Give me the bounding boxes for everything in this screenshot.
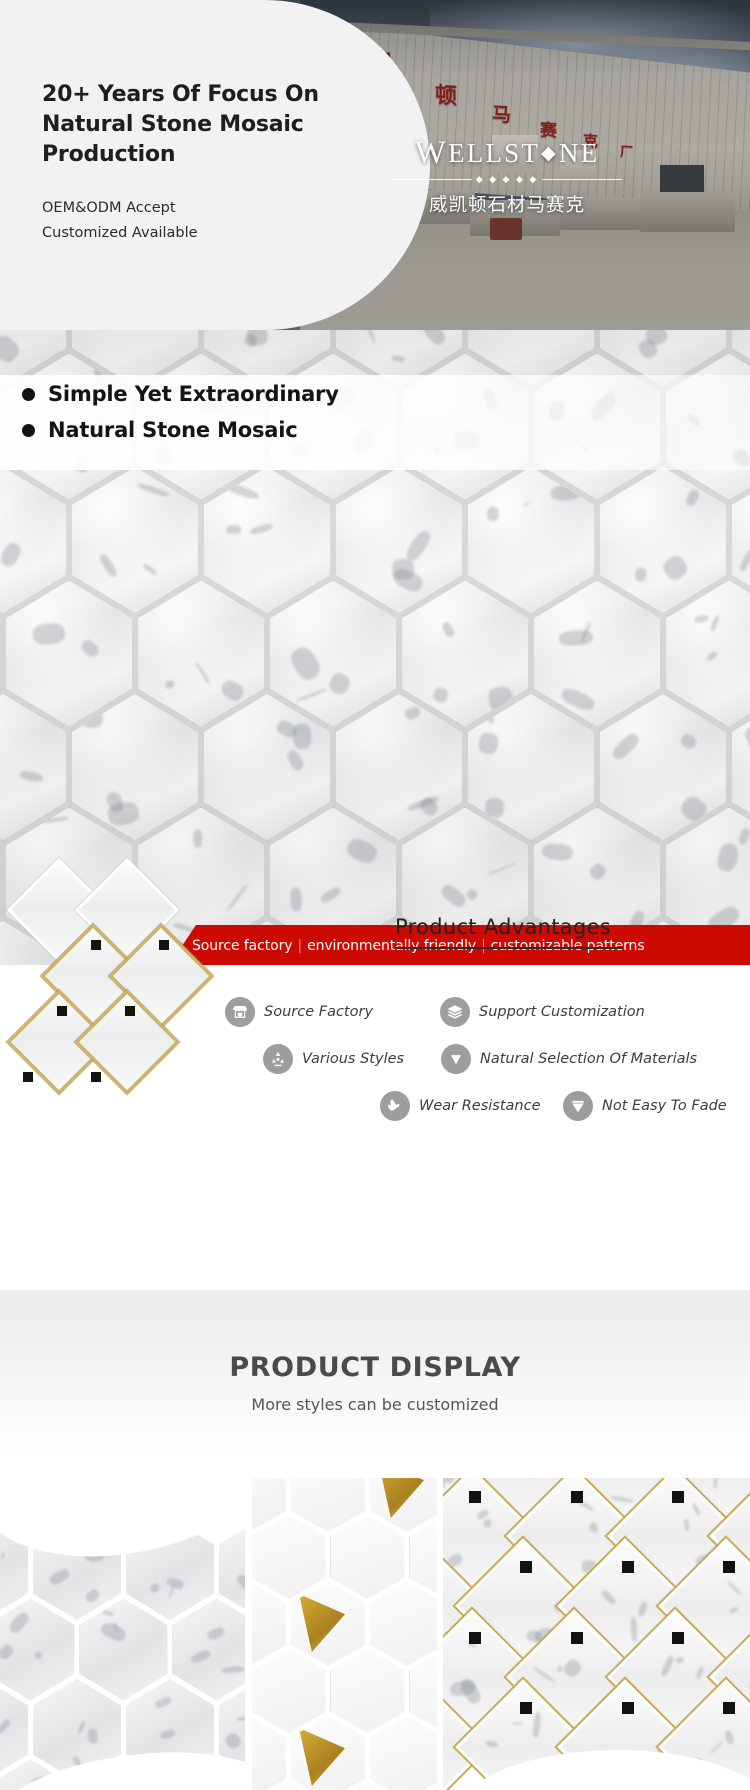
accent-square [469,1491,481,1503]
diamond-icon [563,1091,593,1121]
advantages-title-block: Product Advantages [395,915,715,949]
layers-icon [440,997,470,1027]
marble-vein [729,1606,739,1613]
hero-subtext: OEM&ODM Accept Customized Available [42,196,372,246]
hero-headline: 20+ Years Of Focus On Natural Stone Mosa… [42,80,372,170]
hexagon-tile [291,1582,365,1666]
advantage-label: Natural Selection Of Materials [480,1051,697,1067]
advantage-not-easy-to-fade[interactable]: Not Easy To Fade [563,1091,727,1121]
list-item: Simple Yet Extraordinary [22,382,339,406]
marble-vein [599,1590,616,1607]
accent-square [23,1072,33,1082]
marble-vein [724,1730,735,1745]
section-title: Product Advantages [395,915,611,945]
marble-vein [221,1666,244,1673]
advantage-natural-selection[interactable]: Natural Selection Of Materials [441,1044,697,1074]
advantage-support-customization[interactable]: Support Customization [440,997,645,1027]
accent-square [622,1561,634,1573]
rhombus-tile [173,1599,246,1701]
product-image-rhombus[interactable] [0,1478,245,1790]
marble-vein [77,1721,86,1734]
shield-gem-icon [441,1044,471,1074]
marble-vein [636,1601,648,1618]
gold-accent [299,1728,345,1786]
recycle-icon [263,1044,293,1074]
advantage-various-styles[interactable]: Various Styles [263,1044,441,1074]
logo-body: ELLST [448,138,540,169]
logo-wordmark: WELLST◆NE [392,135,622,172]
accent-square [520,1702,532,1714]
marble-vein [190,1648,212,1664]
gold-accent [299,1594,345,1652]
accent-square [571,1491,583,1503]
gold-accent [378,1478,424,1518]
product-panels [0,1478,750,1790]
bullet-list: Simple Yet Extraordinary Natural Stone M… [22,382,339,454]
accent-square [622,1702,634,1714]
diamond-gold-pattern [443,1478,750,1790]
marble-vein [34,1650,44,1660]
advantage-source-factory[interactable]: Source Factory [225,997,440,1027]
marble-vein [235,1573,245,1592]
product-advantages-section: Product Advantages Source Factory Suppor… [0,965,750,1290]
hexagon-tile [331,1515,405,1599]
marble-vein [484,1519,492,1527]
accent-square [125,1006,135,1016]
marble-vein [237,1715,245,1721]
advantage-label: Various Styles [302,1051,404,1067]
accent-square [672,1491,684,1503]
marble-vein [223,1731,242,1750]
hero-text-block: 20+ Years Of Focus On Natural Stone Mosa… [42,80,372,246]
accent-square [723,1561,735,1573]
advantage-label: Support Customization [479,1004,645,1020]
hero-sub-line-2: Customized Available [42,221,372,246]
list-item: Natural Stone Mosaic [22,418,339,442]
advantages-grid: Source Factory Support Customization Var… [225,997,750,1138]
bullet-dot-icon [22,424,35,437]
marble-vein [47,1567,71,1587]
hexagon-tile [370,1582,437,1666]
rhombus-tile [0,1599,75,1701]
diamond-tile-sample [8,835,238,1085]
feature-separator: | [292,938,307,954]
marble-vein [714,1478,717,1488]
bullet-label: Simple Yet Extraordinary [48,382,339,406]
marble-vein [696,1666,705,1679]
logo-chinese-name: 威凯顿石材马赛克 [392,191,622,217]
bullet-dot-icon [22,388,35,401]
accent-square [469,1632,481,1644]
bullet-label: Natural Stone Mosaic [48,418,298,442]
accent-square [57,1006,67,1016]
marble-vein [206,1626,225,1641]
logo-divider-bar [542,179,622,180]
hexagon-pattern [252,1478,437,1790]
wellstone-logo: WELLST◆NE ◆ ◆ ◆ ◆ ◆ 威凯顿石材马赛克 [392,135,622,217]
marble-vein [710,1741,724,1754]
marble-vein [630,1617,637,1642]
marble-vein [660,1654,675,1677]
logo-divider-bar [392,179,472,180]
marble-vein [727,1580,742,1596]
advantages-row: Source Factory Support Customization [225,997,750,1027]
marble-vein [87,1728,99,1744]
advantages-row: Various Styles Natural Selection Of Mate… [263,1044,750,1074]
logo-diamond-icon: ◆ [540,142,559,165]
advantage-label: Source Factory [264,1004,373,1020]
marble-vein [84,1588,101,1605]
marble-vein [675,1655,684,1662]
hexagon-tile [252,1649,326,1733]
title-underline [395,947,623,949]
advantage-wear-resistance[interactable]: Wear Resistance [380,1091,563,1121]
accent-square [159,940,169,950]
accent-square [571,1632,583,1644]
accent-square [91,940,101,950]
marble-vein [166,1577,185,1591]
marble-vein [512,1721,523,1724]
product-image-hexagon[interactable] [252,1478,437,1790]
marble-vein [561,1657,583,1679]
page-title: PRODUCT DISPLAY [0,1352,750,1383]
marble-vein [0,1718,12,1735]
product-display-section: PRODUCT DISPLAY More styles can be custo… [0,1290,750,1790]
marble-vein [555,1666,563,1673]
hand-rub-icon [380,1091,410,1121]
marble-vein [691,1502,701,1516]
hero-sub-line-1: OEM&ODM Accept [42,196,372,221]
accent-square [520,1561,532,1573]
marble-vein [685,1519,691,1533]
marble-vein [532,1711,542,1738]
hexagon-tile [252,1515,326,1599]
logo-initial: W [415,135,448,172]
product-image-diamond-gold[interactable] [443,1478,750,1790]
hexagon-tile [291,1716,365,1790]
advantages-row: Wear Resistance Not Easy To Fade [380,1091,750,1121]
marble-vein [485,1740,498,1748]
advantage-label: Not Easy To Fade [602,1098,727,1114]
accent-square [723,1702,735,1714]
marble-vein [7,1610,31,1635]
marble-vein [148,1582,160,1594]
marble-vein [531,1666,554,1683]
rhombus-tile [80,1599,168,1701]
marble-vein [0,1642,15,1661]
hero-section: 凯 顿 马 赛 克 厂 20+ Years Of Focus On Natura… [0,0,750,330]
page-subtitle: More styles can be customized [0,1395,750,1414]
product-landing-page: 凯 顿 马 赛 克 厂 20+ Years Of Focus On Natura… [0,0,750,1790]
logo-divider: ◆ ◆ ◆ ◆ ◆ [392,175,622,184]
hexagon-tile [370,1716,437,1790]
marble-vein [0,1552,5,1560]
marble-vein [159,1728,176,1741]
advantage-label: Wear Resistance [419,1098,541,1114]
logo-tail: NE [559,138,599,169]
accent-square [672,1632,684,1644]
marble-vein [154,1696,173,1710]
marble-vein [588,1522,599,1534]
marble-vein [609,1495,634,1503]
accent-square [91,1072,101,1082]
marble-vein [102,1609,114,1617]
hexagon-tile [331,1649,405,1733]
display-header: PRODUCT DISPLAY More styles can be custo… [0,1290,750,1455]
shop-icon [225,997,255,1027]
logo-divider-dots: ◆ ◆ ◆ ◆ ◆ [476,175,539,184]
